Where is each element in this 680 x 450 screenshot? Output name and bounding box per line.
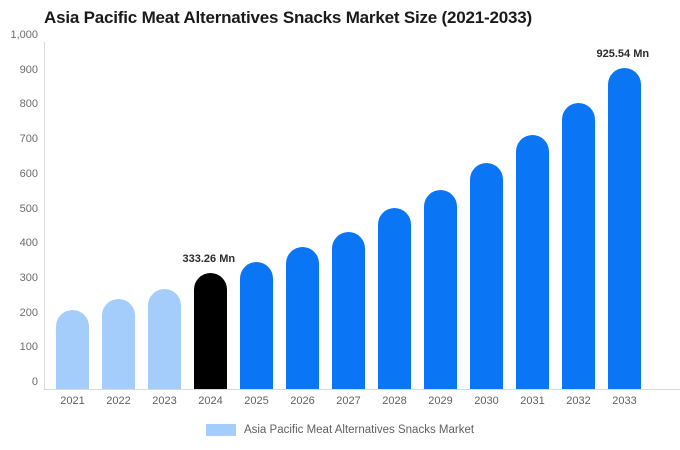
y-axis-tick-label: 500 bbox=[0, 203, 38, 215]
bar-2022[interactable] bbox=[102, 299, 135, 389]
x-axis-tick-label: 2033 bbox=[602, 395, 648, 407]
y-axis-tick-label: 300 bbox=[0, 272, 38, 284]
x-axis-line bbox=[44, 389, 680, 390]
bar-2026[interactable] bbox=[286, 247, 319, 389]
bar-2033[interactable] bbox=[608, 68, 641, 389]
x-axis-tick-label: 2027 bbox=[326, 395, 372, 407]
chart-container: Asia Pacific Meat Alternatives Snacks Ma… bbox=[0, 0, 680, 450]
plot-area: 2021202220232024202520262027202820292030… bbox=[44, 42, 680, 389]
bar-2027[interactable] bbox=[332, 232, 365, 389]
bar-2029[interactable] bbox=[424, 190, 457, 389]
chart-legend: Asia Pacific Meat Alternatives Snacks Ma… bbox=[0, 424, 680, 436]
legend-item-label: Asia Pacific Meat Alternatives Snacks Ma… bbox=[244, 424, 474, 436]
bar-2021[interactable] bbox=[56, 310, 89, 389]
x-axis-tick-label: 2028 bbox=[372, 395, 418, 407]
bar-2030[interactable] bbox=[470, 163, 503, 389]
bar-2028[interactable] bbox=[378, 208, 411, 389]
x-axis-tick-label: 2022 bbox=[96, 395, 142, 407]
legend-swatch-icon bbox=[206, 424, 236, 436]
y-axis-line bbox=[44, 42, 45, 389]
bar-2025[interactable] bbox=[240, 262, 273, 389]
x-axis-tick-label: 2026 bbox=[280, 395, 326, 407]
bar-2032[interactable] bbox=[562, 103, 595, 389]
x-axis-tick-label: 2032 bbox=[556, 395, 602, 407]
x-axis-tick-label: 2031 bbox=[510, 395, 556, 407]
x-axis-tick-label: 2029 bbox=[418, 395, 464, 407]
y-axis-tick-label: 700 bbox=[0, 133, 38, 145]
x-axis-tick-label: 2021 bbox=[50, 395, 96, 407]
y-axis-tick-label: 900 bbox=[0, 64, 38, 76]
x-axis-tick-label: 2025 bbox=[234, 395, 280, 407]
y-axis-tick-label: 0 bbox=[0, 376, 38, 388]
y-axis-tick-label: 800 bbox=[0, 98, 38, 110]
data-label-2024: 333.26 Mn bbox=[183, 253, 236, 265]
y-axis-tick-label: 400 bbox=[0, 237, 38, 249]
data-label-2033: 925.54 Mn bbox=[597, 48, 650, 60]
chart-title: Asia Pacific Meat Alternatives Snacks Ma… bbox=[44, 8, 532, 28]
x-axis-tick-label: 2023 bbox=[142, 395, 188, 407]
bar-2031[interactable] bbox=[516, 135, 549, 389]
y-axis-tick-label: 100 bbox=[0, 341, 38, 353]
bar-2024[interactable] bbox=[194, 273, 227, 389]
x-axis-tick-label: 2024 bbox=[188, 395, 234, 407]
y-axis-tick-label: 200 bbox=[0, 307, 38, 319]
x-axis-tick-label: 2030 bbox=[464, 395, 510, 407]
bar-2023[interactable] bbox=[148, 289, 181, 389]
y-axis-tick-label: 1,000 bbox=[0, 29, 38, 41]
y-axis-tick-label: 600 bbox=[0, 168, 38, 180]
